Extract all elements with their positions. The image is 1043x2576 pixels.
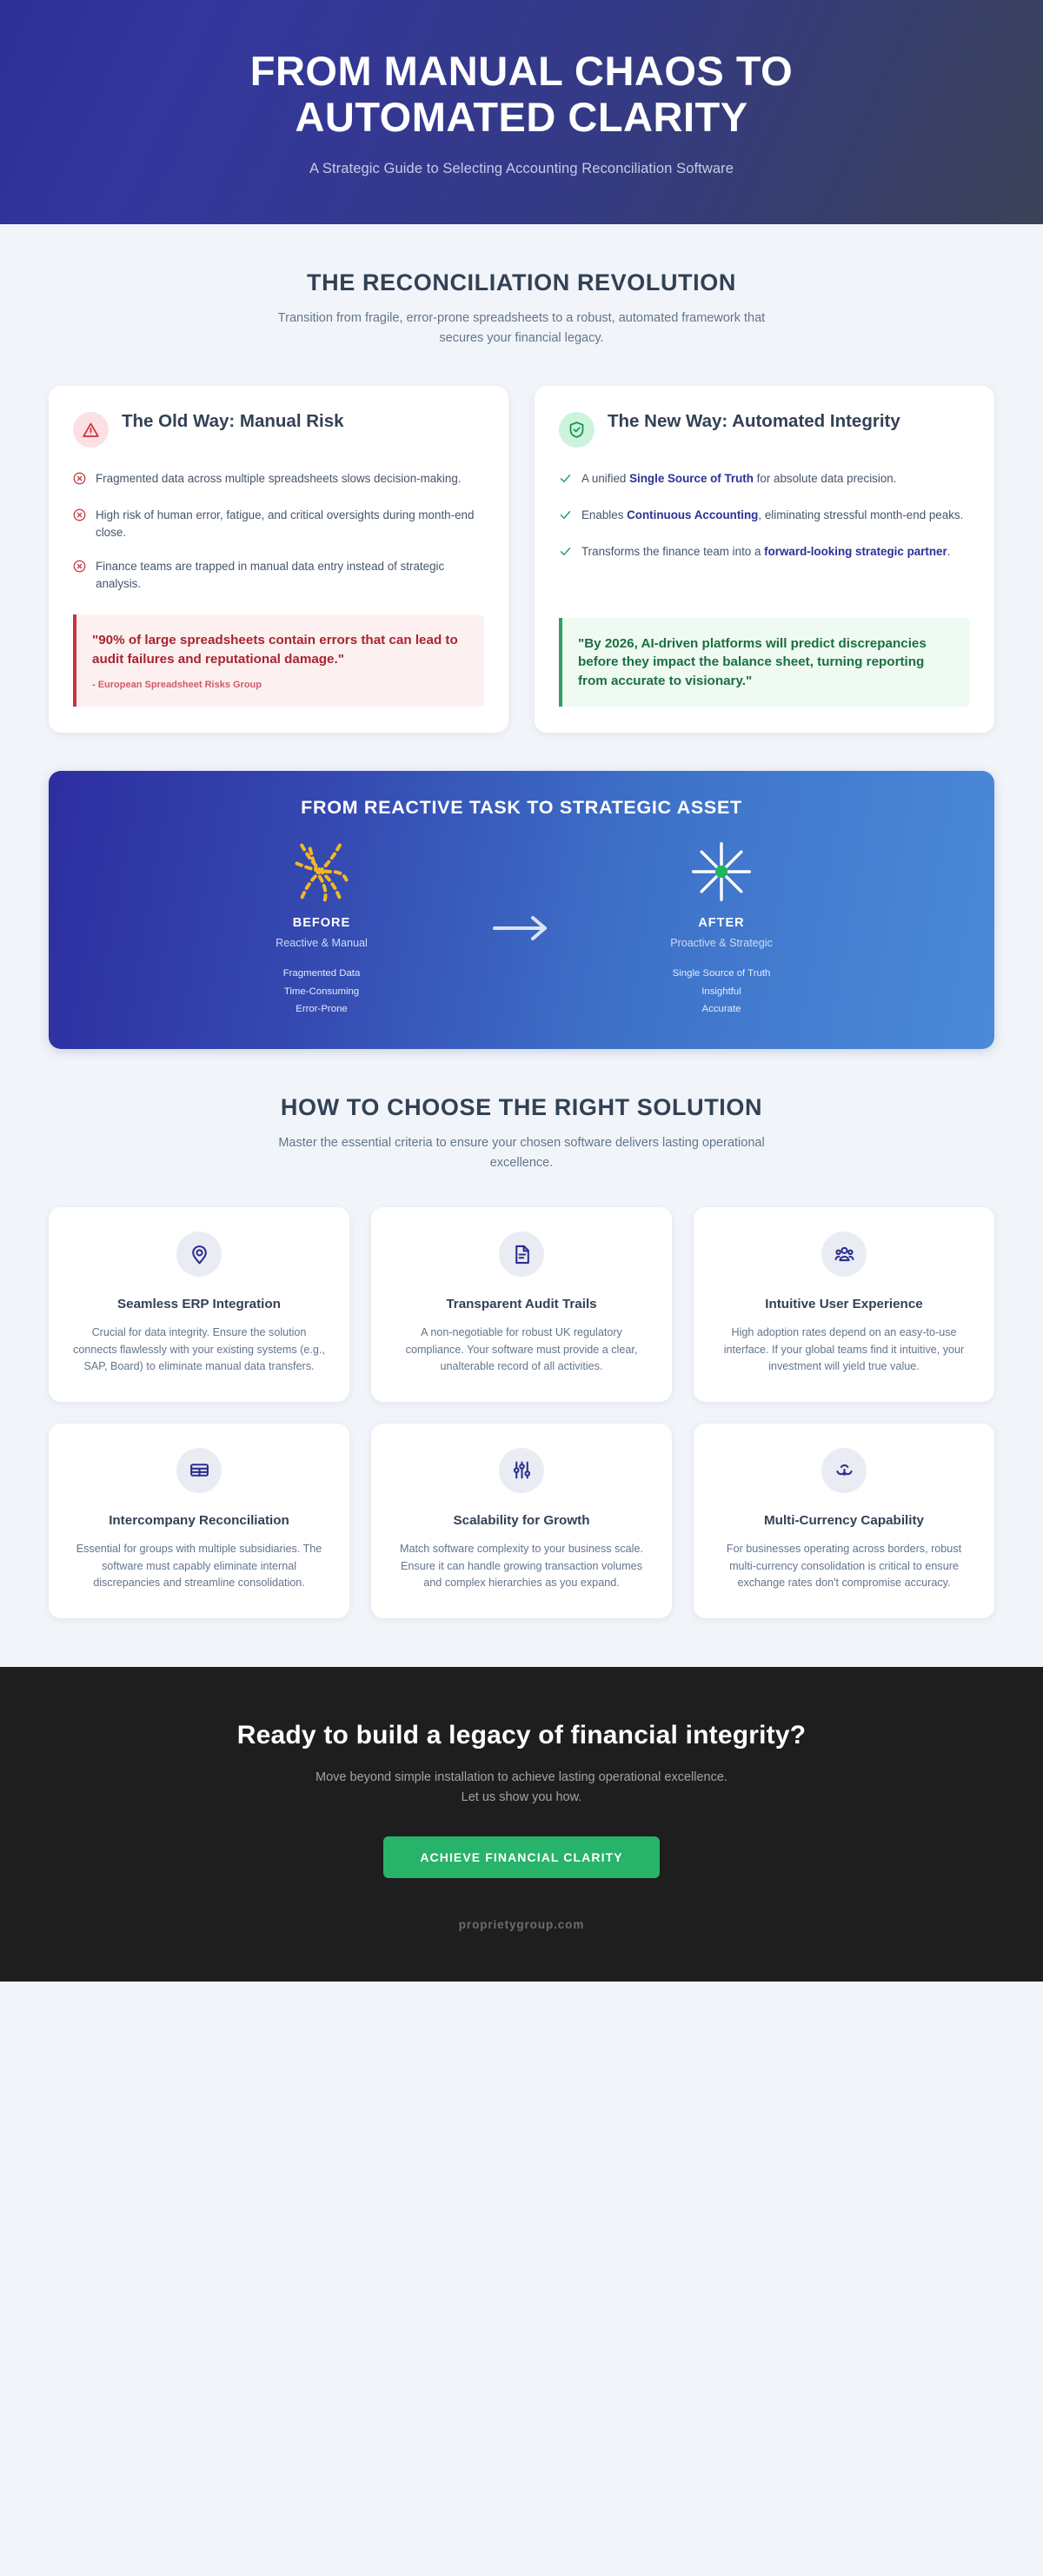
before-items: Fragmented Data Time-Consuming Error-Pro… bbox=[209, 965, 435, 1018]
criteria-card-title: Intuitive User Experience bbox=[714, 1296, 973, 1313]
check-icon bbox=[559, 545, 572, 563]
cta-subtitle: Move beyond simple installation to achie… bbox=[52, 1768, 991, 1809]
check-icon bbox=[559, 508, 572, 527]
criteria-subtitle: Master the essential criteria to ensure … bbox=[261, 1133, 782, 1172]
page-title: FROM MANUAL CHAOS TO AUTOMATED CLARITY bbox=[130, 49, 913, 140]
list-item: Fragmented Data bbox=[209, 965, 435, 982]
list-item: Enables Continuous Accounting, eliminati… bbox=[559, 507, 970, 527]
after-label: AFTER bbox=[608, 916, 834, 930]
new-way-title: The New Way: Automated Integrity bbox=[608, 410, 900, 433]
old-way-bullets: Fragmented data across multiple spreadsh… bbox=[73, 470, 484, 592]
list-item-text: Finance teams are trapped in manual data… bbox=[96, 558, 484, 593]
criteria-card-audit-trails: Transparent Audit Trails A non-negotiabl… bbox=[371, 1207, 672, 1402]
new-way-bullets: A unified Single Source of Truth for abs… bbox=[559, 470, 970, 562]
revolution-subtitle: Transition from fragile, error-prone spr… bbox=[261, 309, 782, 348]
arrow-right-icon bbox=[435, 913, 608, 943]
tangled-chaos-icon bbox=[209, 838, 435, 906]
criteria-card-erp-integration: Seamless ERP Integration Crucial for dat… bbox=[49, 1207, 349, 1402]
criteria-card-multi-currency: Multi-Currency Capability For businesses… bbox=[694, 1424, 994, 1618]
list-item-text: Enables Continuous Accounting, eliminati… bbox=[581, 507, 963, 524]
criteria-card-title: Transparent Audit Trails bbox=[392, 1296, 651, 1313]
list-item: Error-Prone bbox=[209, 1000, 435, 1018]
new-way-quote: "By 2026, AI-driven platforms will predi… bbox=[559, 618, 970, 707]
new-way-card: The New Way: Automated Integrity A unifi… bbox=[535, 386, 994, 733]
revolution-header: THE RECONCILIATION REVOLUTION Transition… bbox=[49, 224, 994, 348]
revolution-section: THE RECONCILIATION REVOLUTION Transition… bbox=[0, 224, 1043, 1666]
table-grid-icon bbox=[176, 1448, 222, 1493]
list-item-text: Transforms the finance team into a forwa… bbox=[581, 543, 950, 561]
shield-check-icon bbox=[559, 412, 595, 448]
old-way-header: The Old Way: Manual Risk bbox=[73, 410, 484, 448]
x-circle-icon bbox=[73, 508, 86, 527]
criteria-card-desc: A non-negotiable for robust UK regulator… bbox=[392, 1325, 651, 1376]
after-state: AFTER Proactive & Strategic Single Sourc… bbox=[608, 838, 834, 1018]
revolution-title: THE RECONCILIATION REVOLUTION bbox=[49, 269, 994, 296]
old-way-card: The Old Way: Manual Risk Fragmented data… bbox=[49, 386, 508, 733]
old-way-quote: "90% of large spreadsheets contain error… bbox=[73, 614, 484, 707]
list-item-text: High risk of human error, fatigue, and c… bbox=[96, 507, 484, 541]
criteria-title: HOW TO CHOOSE THE RIGHT SOLUTION bbox=[49, 1094, 994, 1121]
list-item: Insightful bbox=[608, 983, 834, 1000]
criteria-card-intercompany: Intercompany Reconciliation Essential fo… bbox=[49, 1424, 349, 1618]
criteria-card-title: Scalability for Growth bbox=[392, 1512, 651, 1530]
criteria-card-desc: Match software complexity to your busine… bbox=[392, 1541, 651, 1592]
list-item: High risk of human error, fatigue, and c… bbox=[73, 507, 484, 541]
hero-banner: FROM MANUAL CHAOS TO AUTOMATED CLARITY A… bbox=[0, 0, 1043, 224]
before-tagline: Reactive & Manual bbox=[209, 937, 435, 949]
comparison-row: The Old Way: Manual Risk Fragmented data… bbox=[49, 386, 994, 733]
list-item: Fragmented data across multiple spreadsh… bbox=[73, 470, 484, 490]
cta-footer: Ready to build a legacy of financial int… bbox=[0, 1667, 1043, 1982]
sliders-icon bbox=[499, 1448, 544, 1493]
warning-triangle-icon bbox=[73, 412, 109, 448]
check-icon bbox=[559, 472, 572, 490]
before-label: BEFORE bbox=[209, 916, 435, 930]
list-item: Time-Consuming bbox=[209, 983, 435, 1000]
quote-source: - European Spreadsheet Risks Group bbox=[92, 680, 467, 690]
after-items: Single Source of Truth Insightful Accura… bbox=[608, 965, 834, 1018]
cta-subtitle-line1: Move beyond simple installation to achie… bbox=[316, 1770, 727, 1784]
after-tagline: Proactive & Strategic bbox=[608, 937, 834, 949]
criteria-card-user-experience: Intuitive User Experience High adoption … bbox=[694, 1207, 994, 1402]
x-circle-icon bbox=[73, 472, 86, 490]
cta-subtitle-line2: Let us show you how. bbox=[462, 1790, 582, 1804]
criteria-header: HOW TO CHOOSE THE RIGHT SOLUTION Master … bbox=[49, 1049, 994, 1172]
criteria-card-title: Multi-Currency Capability bbox=[714, 1512, 973, 1530]
list-item-text: Fragmented data across multiple spreadsh… bbox=[96, 470, 462, 488]
starburst-icon bbox=[608, 838, 834, 906]
list-item-text: A unified Single Source of Truth for abs… bbox=[581, 470, 896, 488]
criteria-card-scalability: Scalability for Growth Match software co… bbox=[371, 1424, 672, 1618]
quote-text: "By 2026, AI-driven platforms will predi… bbox=[578, 634, 953, 691]
list-item: A unified Single Source of Truth for abs… bbox=[559, 470, 970, 490]
location-pin-icon bbox=[176, 1232, 222, 1277]
spacer bbox=[559, 563, 970, 595]
criteria-card-desc: High adoption rates depend on an easy-to… bbox=[714, 1325, 973, 1376]
currency-exchange-icon bbox=[821, 1448, 867, 1493]
x-circle-icon bbox=[73, 560, 86, 578]
footer-url[interactable]: proprietygroup.com bbox=[52, 1918, 991, 1931]
banner-row: BEFORE Reactive & Manual Fragmented Data… bbox=[83, 838, 960, 1018]
hero-subtitle: A Strategic Guide to Selecting Accountin… bbox=[52, 161, 991, 177]
criteria-card-title: Seamless ERP Integration bbox=[70, 1296, 329, 1313]
users-group-icon bbox=[821, 1232, 867, 1277]
new-way-header: The New Way: Automated Integrity bbox=[559, 410, 970, 448]
old-way-title: The Old Way: Manual Risk bbox=[122, 410, 344, 433]
criteria-card-desc: For businesses operating across borders,… bbox=[714, 1541, 973, 1592]
criteria-card-desc: Crucial for data integrity. Ensure the s… bbox=[70, 1325, 329, 1376]
banner-title: FROM REACTIVE TASK TO STRATEGIC ASSET bbox=[83, 797, 960, 819]
criteria-card-desc: Essential for groups with multiple subsi… bbox=[70, 1541, 329, 1592]
criteria-card-title: Intercompany Reconciliation bbox=[70, 1512, 329, 1530]
infographic-page: FROM MANUAL CHAOS TO AUTOMATED CLARITY A… bbox=[0, 0, 1043, 2576]
transition-banner: FROM REACTIVE TASK TO STRATEGIC ASSET BE… bbox=[49, 771, 994, 1049]
cta-title: Ready to build a legacy of financial int… bbox=[52, 1721, 991, 1750]
criteria-grid: Seamless ERP Integration Crucial for dat… bbox=[49, 1207, 994, 1666]
document-icon bbox=[499, 1232, 544, 1277]
list-item: Accurate bbox=[608, 1000, 834, 1018]
list-item: Finance teams are trapped in manual data… bbox=[73, 558, 484, 593]
quote-text: "90% of large spreadsheets contain error… bbox=[92, 631, 467, 668]
before-state: BEFORE Reactive & Manual Fragmented Data… bbox=[209, 838, 435, 1018]
list-item: Transforms the finance team into a forwa… bbox=[559, 543, 970, 563]
list-item: Single Source of Truth bbox=[608, 965, 834, 982]
achieve-financial-clarity-button[interactable]: ACHIEVE FINANCIAL CLARITY bbox=[383, 1836, 659, 1878]
